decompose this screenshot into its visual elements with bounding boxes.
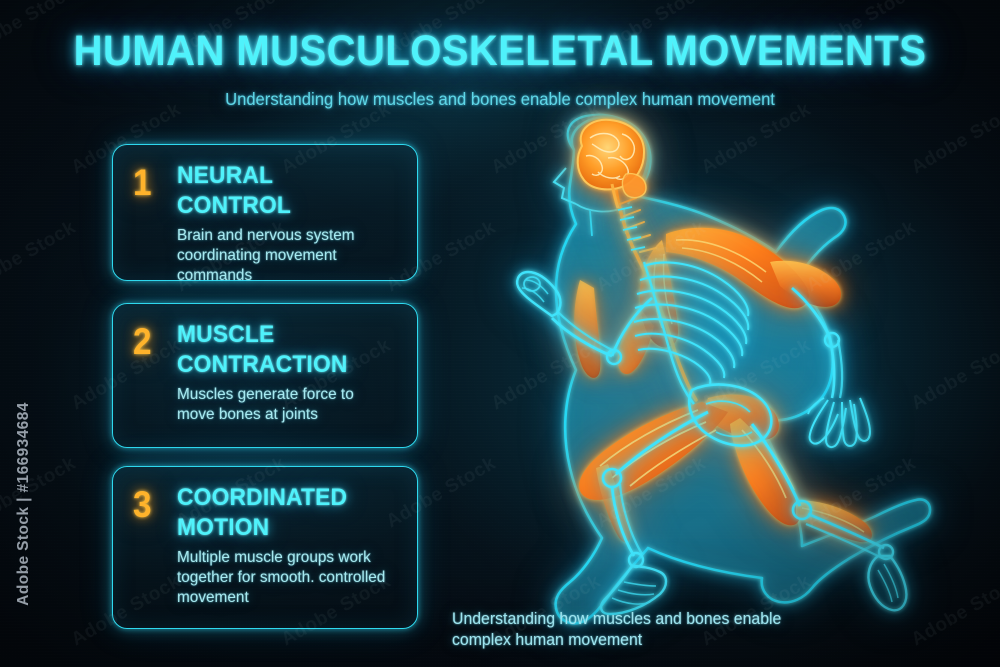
step-heading: COORDINATED MOTION (177, 483, 388, 543)
anatomy-figure (440, 112, 1000, 632)
step-number: 3 (133, 485, 173, 525)
figure-caption: Understanding how muscles and bones enab… (452, 609, 826, 651)
step-description: Multiple muscle groups work together for… (177, 548, 390, 608)
step-card-body: MUSCLE CONTRACTION Muscles generate forc… (177, 320, 399, 425)
step-heading: MUSCLE CONTRACTION (177, 320, 388, 380)
step-number: 1 (133, 163, 173, 203)
infographic-canvas: HUMAN MUSCULOSKELETAL MOVEMENTS Understa… (0, 0, 1000, 667)
body-outline (554, 115, 930, 623)
page-subtitle: Understanding how muscles and bones enab… (25, 88, 975, 110)
step-card-body: COORDINATED MOTION Multiple muscle group… (177, 483, 399, 608)
step-card-neural-control[interactable]: 1 NEURAL CONTROL Brain and nervous syste… (112, 144, 418, 281)
step-description: Brain and nervous system coordinating mo… (177, 226, 390, 286)
step-description: Muscles generate force to move bones at … (177, 385, 390, 425)
step-card-coordinated-motion[interactable]: 3 COORDINATED MOTION Multiple muscle gro… (112, 466, 418, 629)
step-card-body: NEURAL CONTROL Brain and nervous system … (177, 161, 399, 286)
page-title: HUMAN MUSCULOSKELETAL MOVEMENTS (35, 26, 965, 76)
step-card-muscle-contraction[interactable]: 2 MUSCLE CONTRACTION Muscles generate fo… (112, 303, 418, 448)
step-number: 2 (133, 322, 173, 362)
step-heading: NEURAL CONTROL (177, 161, 388, 221)
